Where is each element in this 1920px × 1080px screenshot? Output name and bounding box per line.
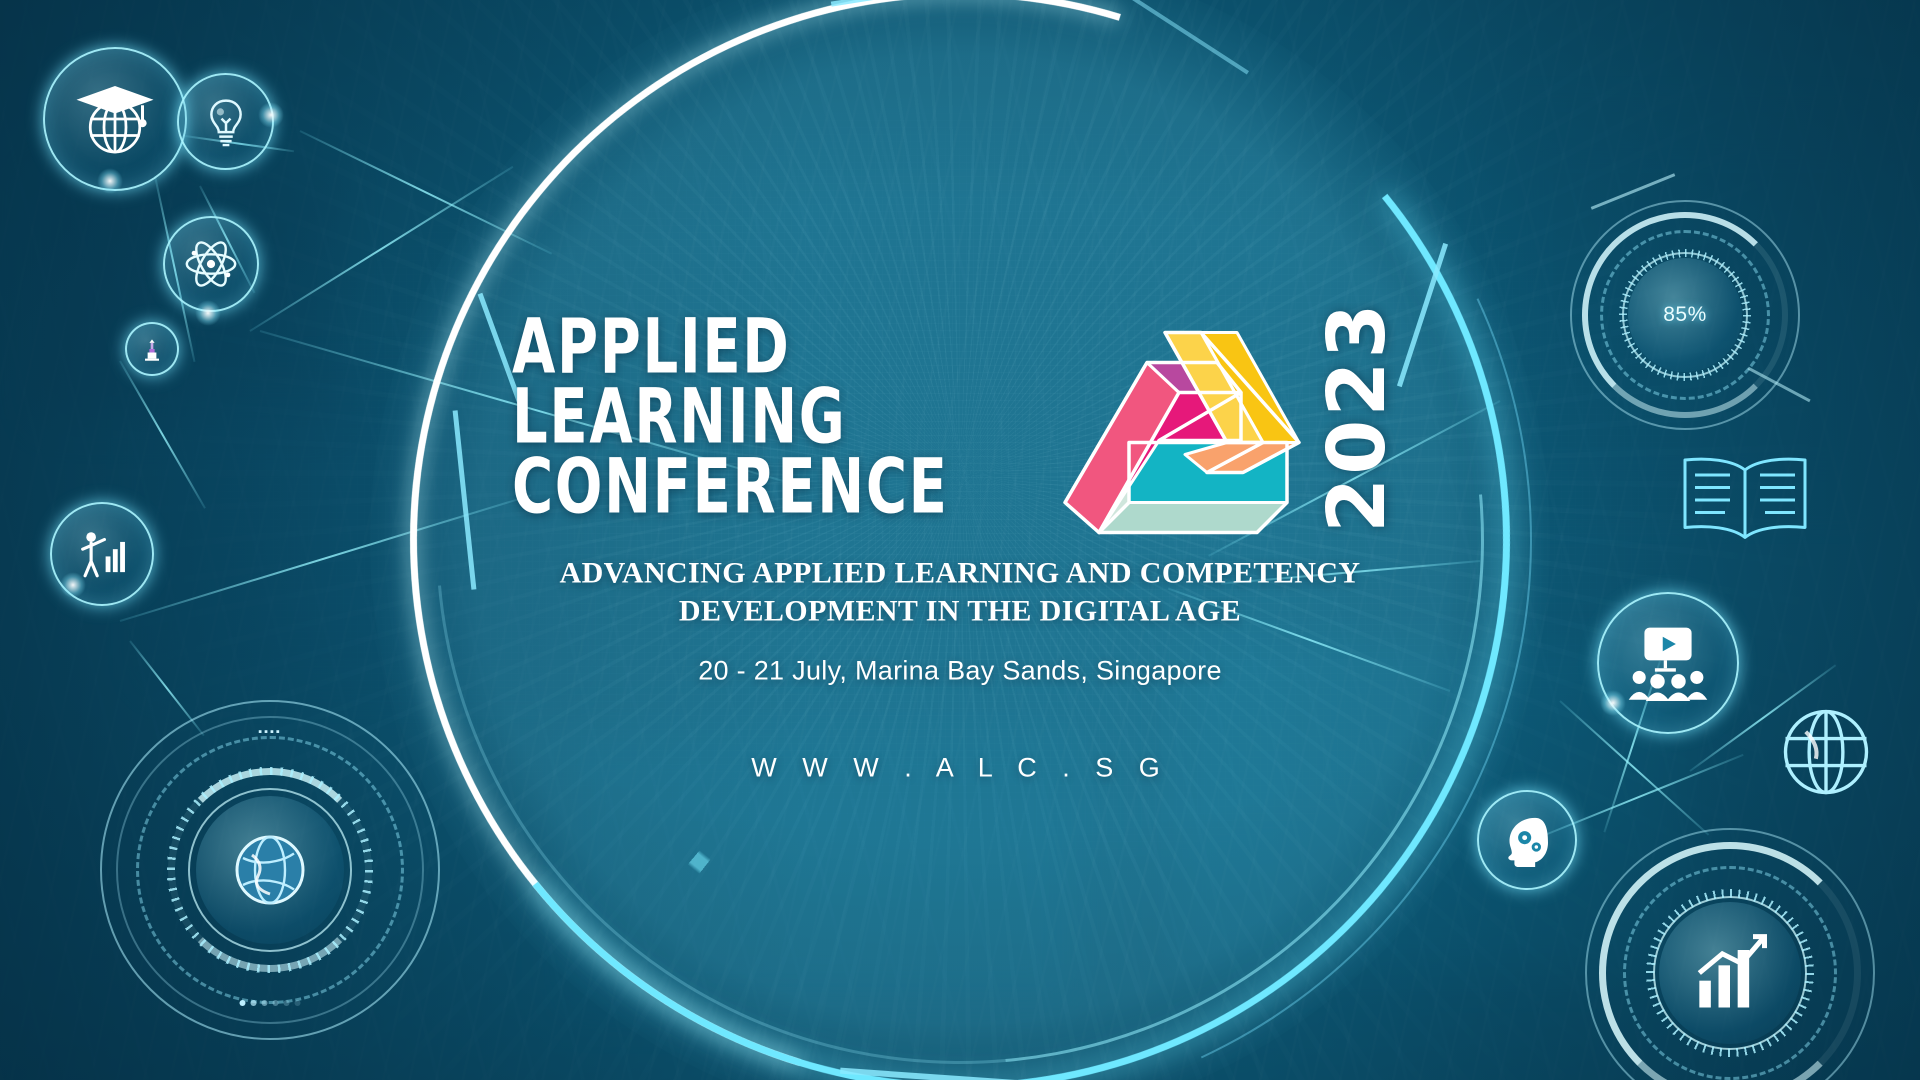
node-head-gears: [1477, 790, 1577, 890]
event-dateline: 20 - 21 July, Marina Bay Sands, Singapor…: [450, 656, 1470, 687]
lightbulb-icon: [199, 95, 253, 149]
node-spark: [97, 168, 123, 194]
atom-icon: [182, 235, 240, 293]
presenter-chart-icon: [73, 525, 131, 583]
event-title: APPLIED LEARNING CONFERENCE: [512, 312, 1044, 522]
growth-chart-hud-icon: [1684, 927, 1776, 1019]
title-and-logo-row: APPLIED LEARNING CONFERENCE: [450, 297, 1470, 537]
video-audience-icon: [1626, 625, 1710, 701]
node-wireframe-globe: [1772, 698, 1880, 811]
title-line-3: CONFERENCE: [512, 451, 949, 521]
graduation-globe-icon: [71, 75, 159, 163]
node-spark: [258, 102, 284, 128]
event-year: 2023: [1310, 300, 1403, 532]
hud-top-label: ▪▪▪▪: [258, 726, 282, 738]
tagline-line-1: ADVANCING APPLIED LEARNING AND COMPETENC…: [450, 555, 1470, 593]
event-website[interactable]: W W W . A L C . S G: [450, 753, 1470, 784]
wireframe-globe-icon: [1772, 698, 1880, 806]
event-tagline: ADVANCING APPLIED LEARNING AND COMPETENC…: [450, 555, 1470, 630]
node-spark: [1600, 690, 1626, 716]
conference-banner: APPLIED LEARNING CONFERENCE: [0, 0, 1920, 1080]
hud-globe-widget: ▪▪▪▪: [100, 700, 440, 1040]
node-spark: [60, 572, 86, 598]
microscope-icon: [138, 335, 166, 363]
node-atom: [163, 216, 259, 312]
head-gears-icon: [1499, 812, 1555, 868]
banner-center-content: APPLIED LEARNING CONFERENCE: [450, 297, 1470, 784]
open-book-icon: [1670, 450, 1820, 545]
conference-logo: [1051, 297, 1301, 537]
hud-percentage-gauge: 85%: [1570, 200, 1800, 430]
tagline-line-2: DEVELOPMENT IN THE DIGITAL AGE: [450, 592, 1470, 630]
node-microscope: [125, 322, 179, 376]
penrose-triangle-logo-icon: [1051, 297, 1301, 537]
globe-hud-icon: [222, 822, 318, 918]
hud-dot-row: [240, 1000, 301, 1006]
gauge-value-label: 85%: [1663, 303, 1707, 327]
node-open-book: [1670, 450, 1820, 550]
node-spark: [195, 300, 221, 326]
